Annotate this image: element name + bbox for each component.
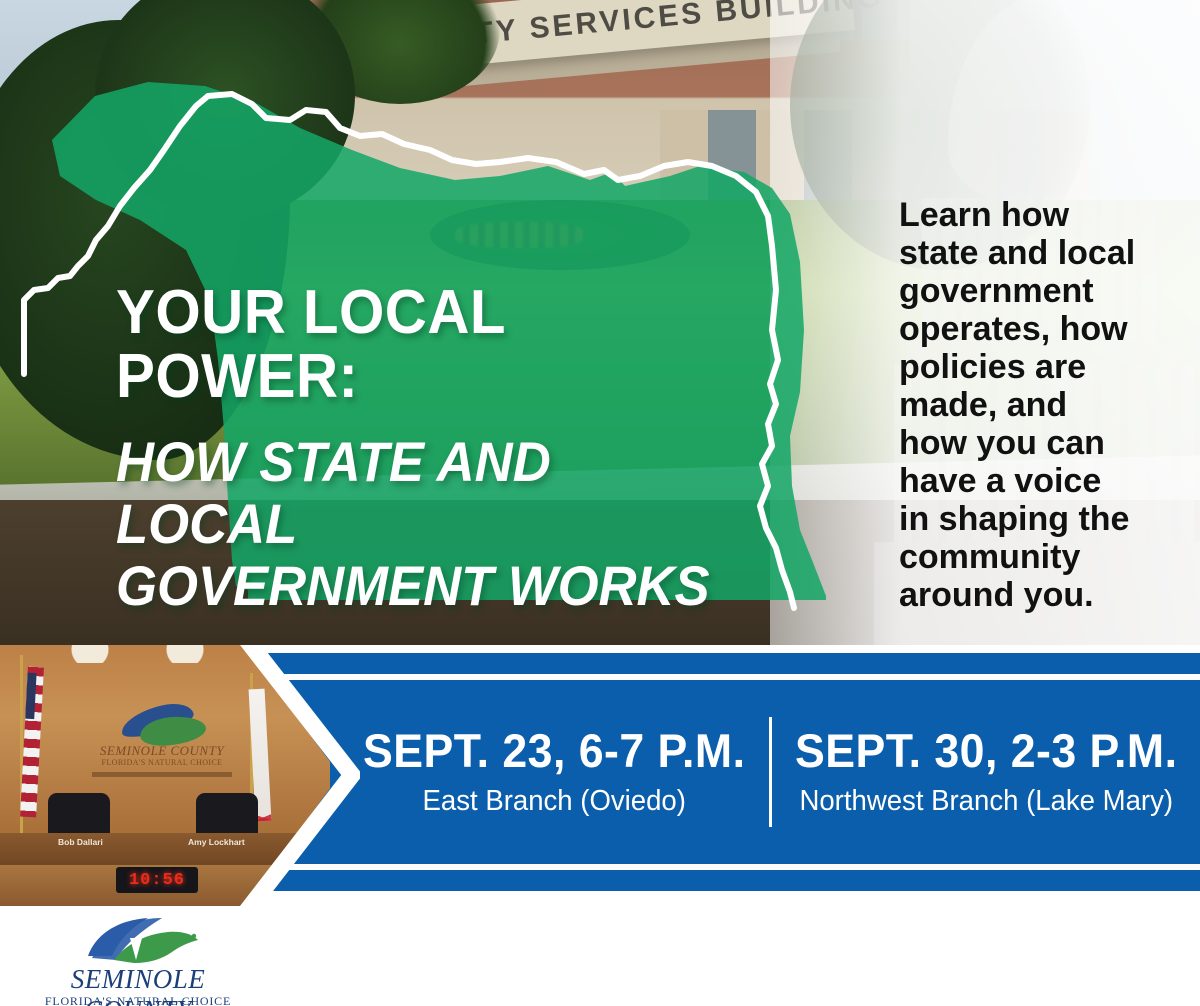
event-date: SEPT. 23, 6-7 P.M. [351, 725, 758, 777]
hero-section: SEMINOLE COUNTY SERVICES BUILDING [0, 0, 1200, 645]
subtitle-line-1: HOW STATE AND LOCAL [116, 431, 718, 555]
event-location: East Branch (Oviedo) [351, 783, 758, 819]
seminole-county-logo: SEMINOLE COUNTY FLORIDA'S NATURAL CHOICE [22, 916, 254, 1006]
event-band: SEMINOLE COUNTY FLORIDA'S NATURAL CHOICE… [0, 645, 1200, 906]
page-title: YOUR LOCAL POWER: [116, 281, 718, 409]
event-list: SEPT. 23, 6-7 P.M. East Branch (Oviedo) … [340, 680, 1200, 864]
event-item: SEPT. 30, 2-3 P.M. Northwest Branch (Lak… [772, 725, 1200, 819]
description-text: Learn how state and local government ope… [899, 196, 1139, 614]
county-logo-tagline: FLORIDA'S NATURAL CHOICE [22, 994, 254, 1006]
headline-block: YOUR LOCAL POWER: HOW STATE AND LOCAL GO… [116, 281, 756, 617]
event-location: Northwest Branch (Lake Mary) [782, 783, 1189, 819]
event-item: SEPT. 23, 6-7 P.M. East Branch (Oviedo) [340, 725, 769, 819]
promotional-flyer: SEMINOLE COUNTY SERVICES BUILDING [0, 0, 1200, 1006]
subtitle-line-2: GOVERNMENT WORKS [116, 555, 718, 617]
chevron-arrow-icon [0, 645, 360, 906]
footer: SEMINOLE COUNTY FLORIDA'S NATURAL CHOICE… [0, 906, 1200, 1006]
event-date: SEPT. 30, 2-3 P.M. [782, 725, 1189, 777]
